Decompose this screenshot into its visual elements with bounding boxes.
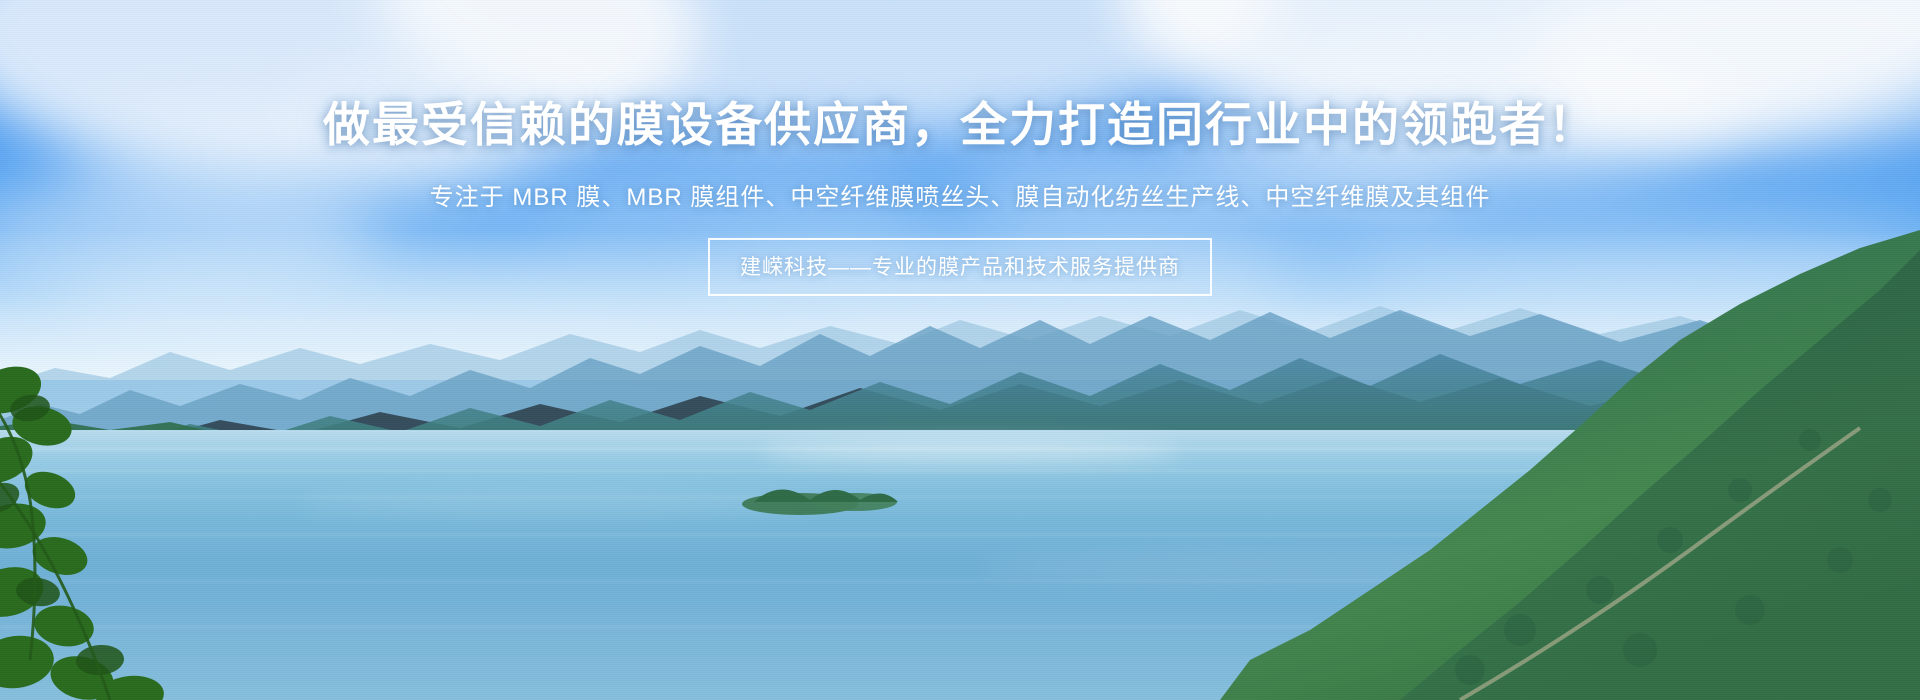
foreground-foliage [0,330,220,700]
island-shape [740,470,910,518]
banner-subheadline: 专注于 MBR 膜、MBR 膜组件、中空纤维膜喷丝头、膜自动化纺丝生产线、中空纤… [0,177,1920,212]
banner-tagline-box: 建嵘科技——专业的膜产品和技术服务提供商 [708,238,1212,296]
right-green-hill [1220,230,1920,700]
banner-headline: 做最受信赖的膜设备供应商，全力打造同行业中的领跑者！ [0,96,1920,155]
hero-banner: 做最受信赖的膜设备供应商，全力打造同行业中的领跑者！ 专注于 MBR 膜、MBR… [0,0,1920,700]
banner-content: 做最受信赖的膜设备供应商，全力打造同行业中的领跑者！ 专注于 MBR 膜、MBR… [0,0,1920,296]
